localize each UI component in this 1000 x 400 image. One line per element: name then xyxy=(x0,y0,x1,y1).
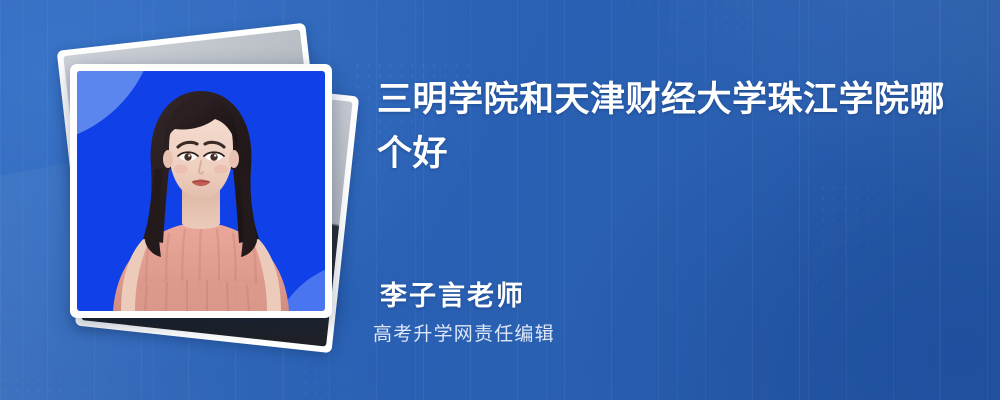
background-dot-grid xyxy=(818,182,913,317)
author-portrait xyxy=(77,71,325,311)
author-role: 高考升学网责任编辑 xyxy=(373,319,555,346)
article-title: 三明学院和天津财经大学珠江学院哪个好 xyxy=(377,73,962,181)
author-avatar xyxy=(77,71,325,311)
author-name: 李子言老师 xyxy=(380,274,525,313)
author-portrait-illustration xyxy=(77,71,325,311)
author-photo-stack xyxy=(40,30,360,370)
author-photo-card xyxy=(70,64,332,318)
article-cover-banner: 三明学院和天津财经大学珠江学院哪个好 李子言老师 高考升学网责任编辑 xyxy=(0,0,1000,400)
